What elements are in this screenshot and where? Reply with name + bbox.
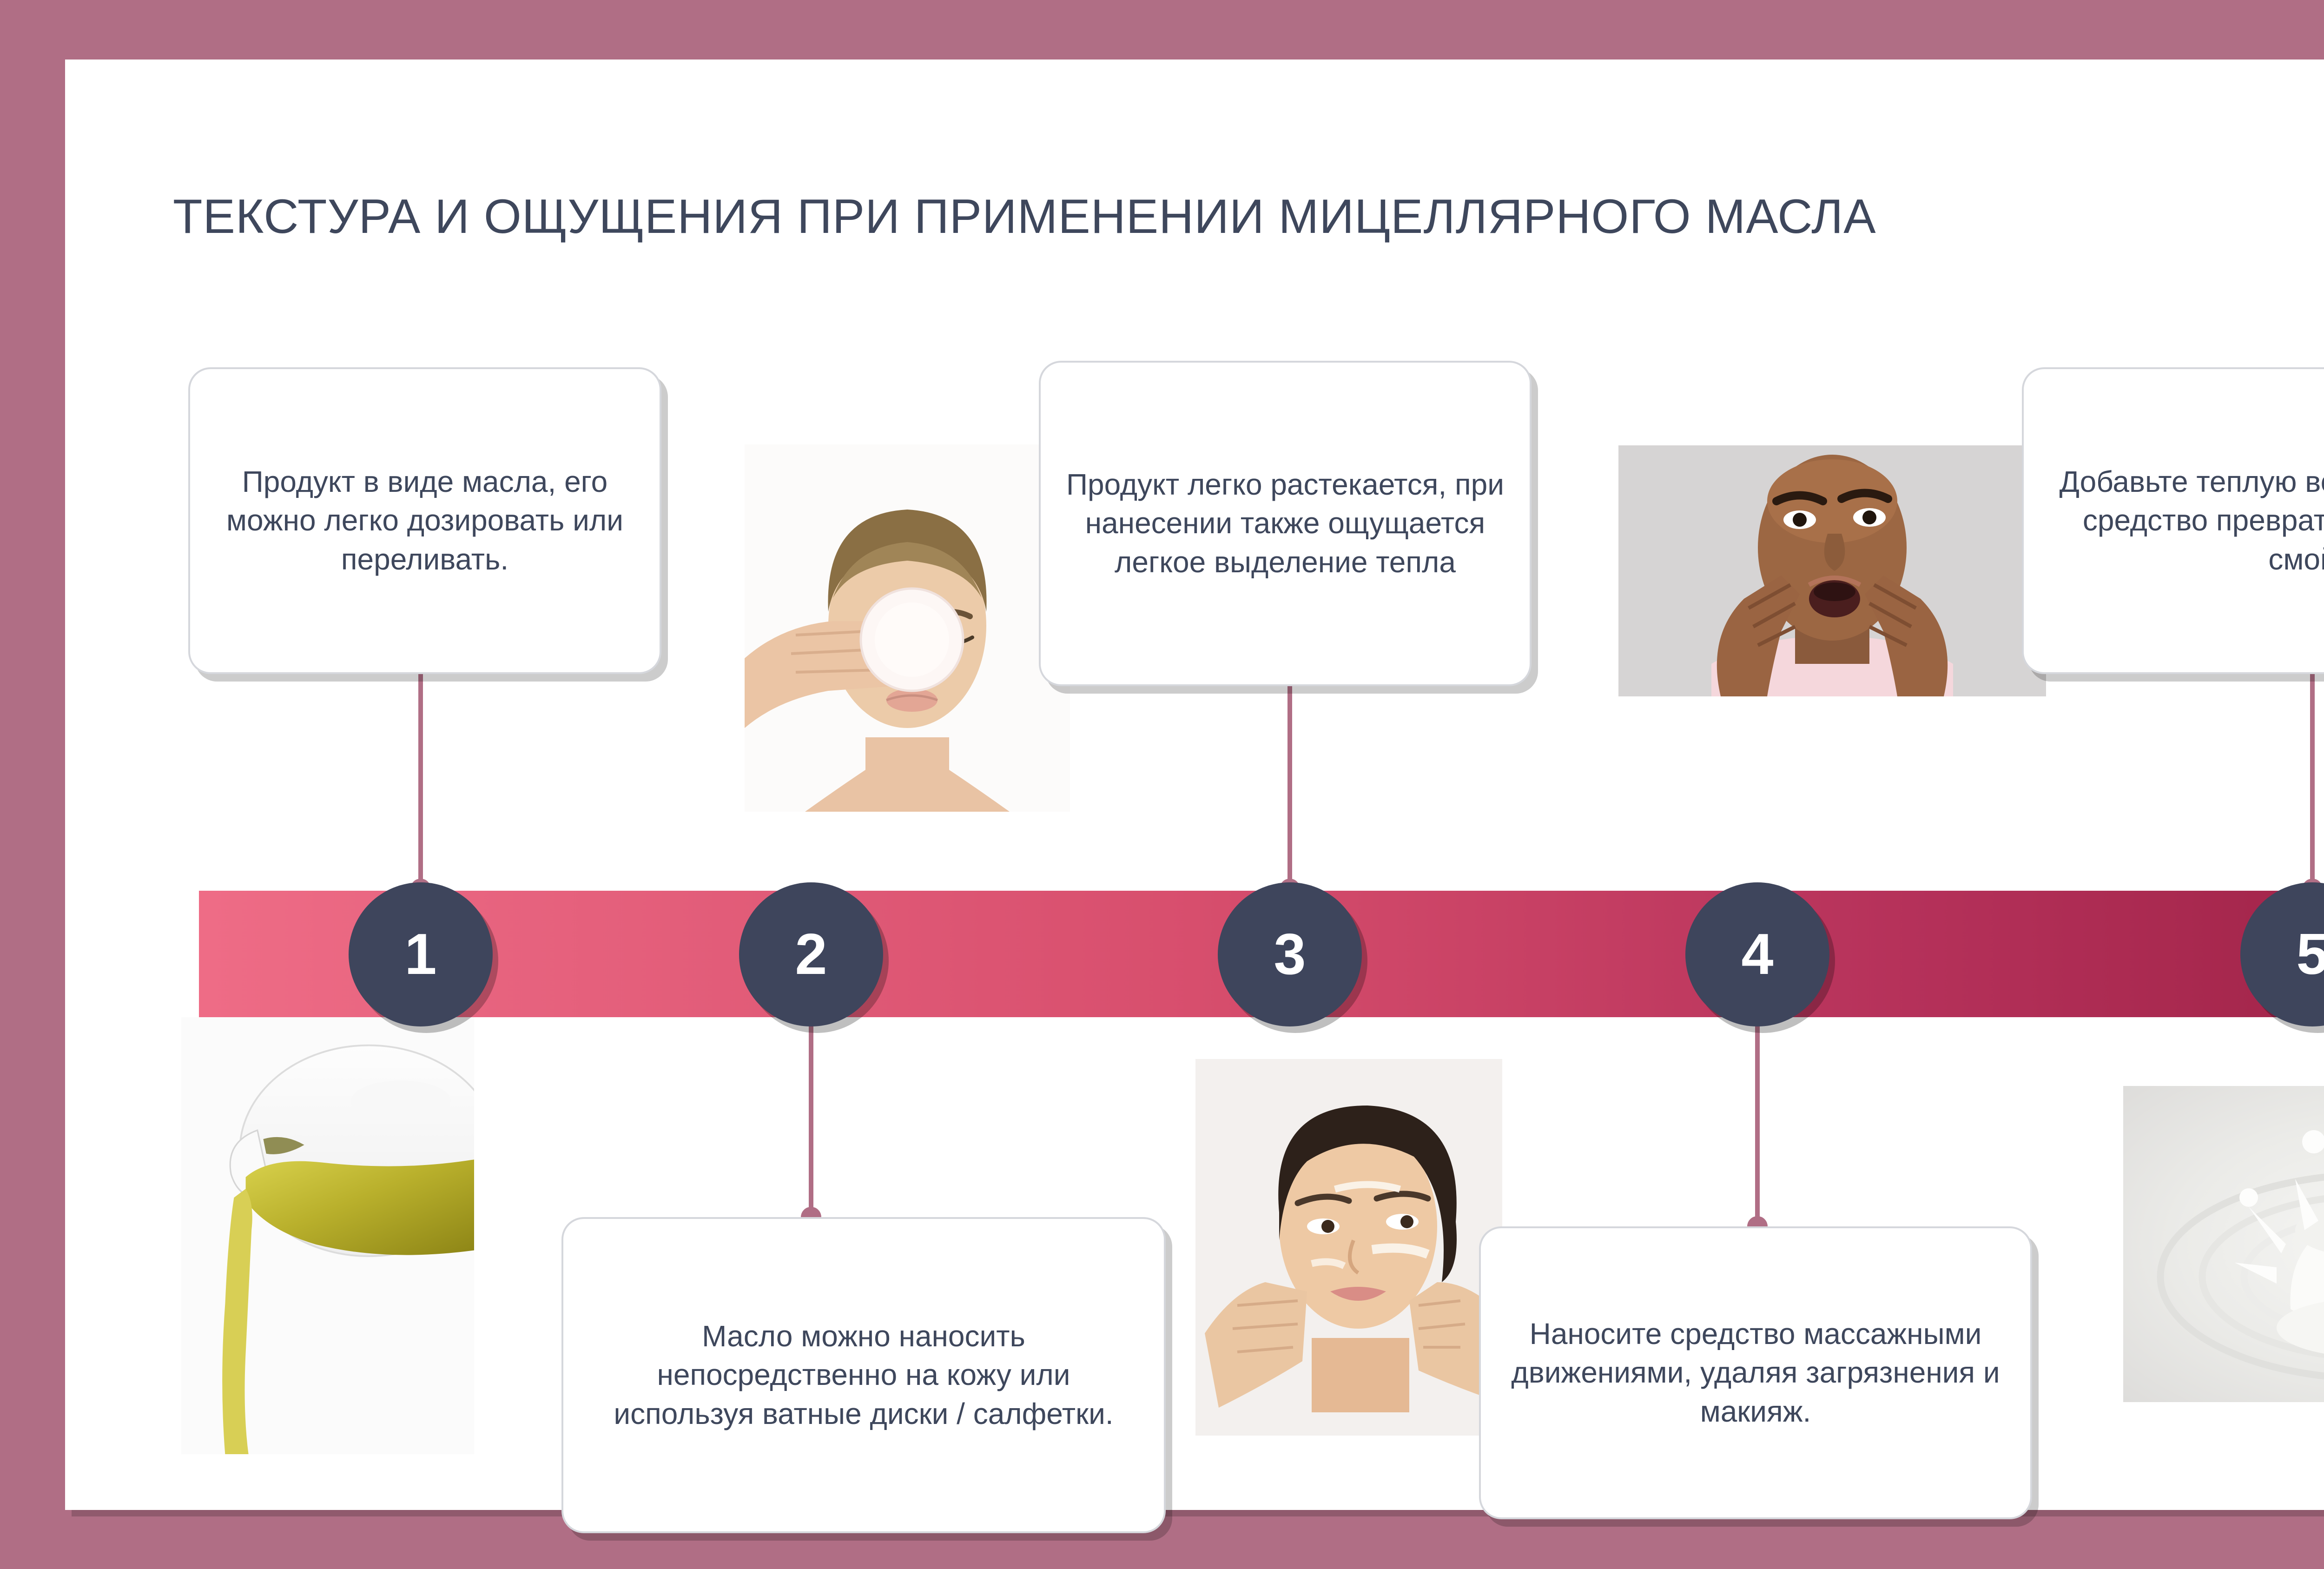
- callout-step-2[interactable]: Масло можно наносить непосредственно на …: [561, 1217, 1166, 1533]
- slide-panel: ТЕКСТУРА И ОЩУЩЕНИЯ ПРИ ПРИМЕНЕНИИ МИЦЕЛ…: [65, 60, 2324, 1510]
- callout-text-2: Масло можно наносить непосредственно на …: [584, 1317, 1143, 1433]
- callout-step-3[interactable]: Продукт легко растекается, при нанесении…: [1039, 361, 1532, 686]
- callout-text-4: Наносите средство массажными движениями,…: [1501, 1315, 2010, 1431]
- face-massage-photo: [1618, 445, 2046, 696]
- pouring-oil-photo: [181, 1017, 474, 1454]
- step-circle-2[interactable]: 2: [739, 882, 883, 1026]
- callout-step-5[interactable]: Добавьте теплую воду, помассируйте, сред…: [2022, 367, 2324, 674]
- applying-cream-photo: [1195, 1059, 1502, 1436]
- step-circle-3[interactable]: 3: [1218, 882, 1362, 1026]
- slide-root: ТЕКСТУРА И ОЩУЩЕНИЯ ПРИ ПРИМЕНЕНИИ МИЦЕЛ…: [0, 0, 2324, 1569]
- step-circle-1[interactable]: 1: [349, 882, 493, 1026]
- milk-splash-photo: [2123, 1086, 2324, 1402]
- callout-step-4[interactable]: Наносите средство массажными движениями,…: [1479, 1226, 2032, 1519]
- callout-text-3: Продукт легко растекается, при нанесении…: [1061, 465, 1509, 582]
- callout-step-1[interactable]: Продукт в виде масла, его можно легко до…: [188, 367, 661, 674]
- cotton-pad-photo: [745, 444, 1070, 812]
- step-circle-4[interactable]: 4: [1685, 882, 1829, 1026]
- page-title: ТЕКСТУРА И ОЩУЩЕНИЯ ПРИ ПРИМЕНЕНИИ МИЦЕЛ…: [173, 190, 2324, 244]
- callout-text-5: Добавьте теплую воду, помассируйте, сред…: [2044, 463, 2324, 579]
- callout-text-1: Продукт в виде масла, его можно легко до…: [211, 463, 639, 579]
